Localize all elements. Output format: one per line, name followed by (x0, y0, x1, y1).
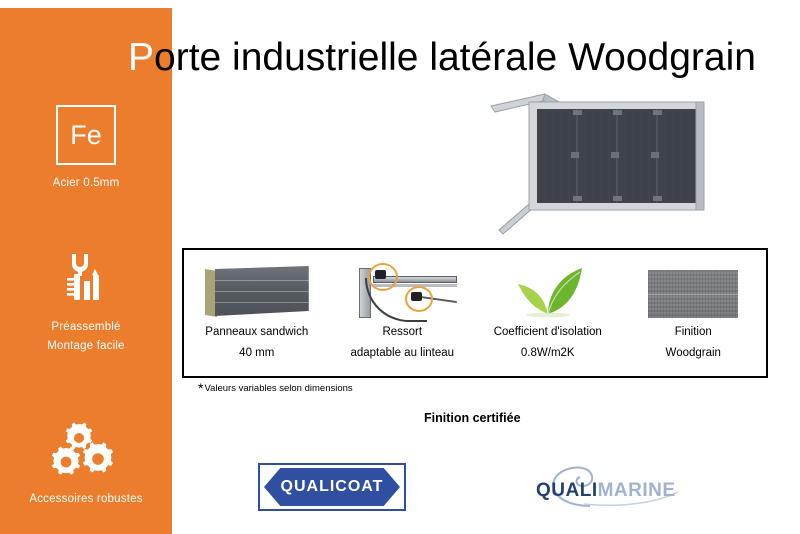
feature-panel: Panneaux sandwich 40 mm Ressort adaptabl… (182, 248, 768, 378)
sandwich-panel-icon (205, 256, 309, 318)
wrench-screwdriver-icon (0, 248, 172, 310)
qualicoat-label: QUALICOAT (281, 478, 384, 496)
feature-cell-panneaux: Panneaux sandwich 40 mm (184, 250, 330, 376)
qualimarine-label-bold: QUALI (536, 480, 598, 501)
footnote: *Valeurs variables selon dimensions (198, 380, 353, 396)
feature-title: Panneaux sandwich (205, 326, 308, 338)
feature-title: Coefficient d'isolation (494, 326, 602, 338)
sidebar-item-preassemble: Préassemblé Montage facile (0, 248, 172, 356)
qualimarine-label-light: MARINE (598, 480, 676, 501)
product-door-image (487, 88, 722, 238)
page-title: Porte industrielle latérale Woodgrain (128, 30, 788, 86)
footnote-text: Valeurs variables selon dimensions (204, 383, 352, 394)
sidebar-label-acier: Acier 0.5mm (0, 174, 172, 193)
sidebar-item-acier: Fe Acier 0.5mm (0, 105, 172, 193)
sidebar: Fe Acier 0.5mm Préassemblé Montage facil… (0, 8, 172, 534)
qualimarine-logo: QUALIMARINE (528, 462, 696, 512)
feature-sub: Woodgrain (666, 347, 721, 359)
certification-heading: Finition certifiée (424, 411, 521, 425)
sidebar-label-montage: Montage facile (0, 337, 172, 356)
gears-icon (0, 420, 172, 482)
fe-element-icon: Fe (56, 105, 116, 165)
qualimarine-label: QUALIMARINE (536, 480, 676, 502)
feature-cell-ressort: Ressort adaptable au linteau (330, 250, 476, 376)
sidebar-label-accessoires: Accessoires robustes (0, 490, 172, 509)
page-title-initial: P (128, 36, 154, 79)
sidebar-label-preassemble: Préassemblé (0, 318, 172, 337)
footnote-asterisk: * (198, 380, 203, 396)
fe-symbol-label: Fe (70, 122, 102, 149)
feature-title: Ressort (382, 326, 422, 338)
page-title-rest: orte industrielle latérale Woodgrain (154, 36, 756, 79)
feature-sub: 40 mm (239, 347, 274, 359)
feature-sub: adaptable au linteau (350, 347, 454, 359)
qualicoat-diamond: QUALICOAT (264, 468, 400, 506)
qualicoat-logo: QUALICOAT (258, 463, 406, 511)
feature-sub: 0.8W/m2K (521, 347, 575, 359)
spring-mechanism-icon (347, 256, 457, 318)
feature-cell-isolation: Coefficient d'isolation 0.8W/m2K (475, 250, 621, 376)
sidebar-item-accessoires: Accessoires robustes (0, 420, 172, 509)
woodgrain-swatch-icon (648, 256, 738, 318)
feature-cell-finition: Finition Woodgrain (621, 250, 767, 376)
feature-title: Finition (675, 326, 712, 338)
green-leaves-icon (508, 256, 588, 318)
